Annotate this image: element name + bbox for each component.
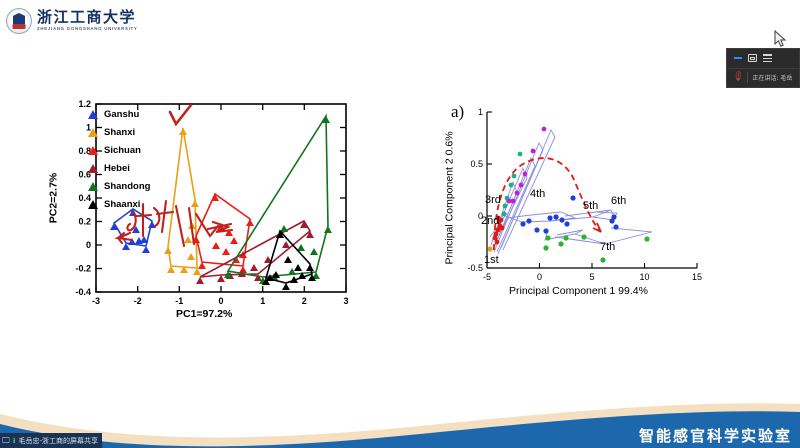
chart-legend: Ganshu Shanxi Sichuan Hebei Shandong Sha… [88,106,150,212]
zoom-meeting-control-panel[interactable]: 🎙 正在讲话: 毛岳 [726,48,800,88]
svg-text:15: 15 [692,272,702,282]
svg-text:2nd: 2nd [481,215,499,227]
legend-marker-triangle [88,146,98,155]
svg-text:-5: -5 [483,272,491,282]
svg-text:6th: 6th [611,195,626,207]
svg-text:3: 3 [343,296,348,306]
legend-label: Shandong [104,181,150,192]
svg-text:1: 1 [260,296,265,306]
legend-label: Shaanxi [104,199,140,210]
right-x-tick-labels: -505 1015 [483,272,702,282]
svg-text:10: 10 [639,272,649,282]
slide-screenshare-stage: 浙江工商大学 ZHEJIANG GONGSHANG UNIVERSITY [0,0,800,448]
screenshare-label: 毛岳忠-浙工商的屏幕共享 [19,436,99,446]
pca-stages-chart: a) -505 1015 -0.50 0.51 [445,100,710,310]
legend-marker-triangle [88,164,98,173]
legend-marker-triangle [88,182,98,191]
legend-item-ganshu: Ganshu [88,106,150,122]
restore-window-icon[interactable] [748,54,757,62]
legend-item-hebei: Hebei [88,160,150,176]
svg-text:0.2: 0.2 [78,217,91,227]
svg-text:-2: -2 [134,296,142,306]
university-seal-icon [6,8,32,34]
legend-item-sichuan: Sichuan [88,142,150,158]
legend-item-shaanxi: Shaanxi [88,196,150,212]
svg-text:4th: 4th [530,188,545,200]
legend-item-shanxi: Shanxi [88,124,150,140]
zoom-panel-window-controls [727,49,799,69]
university-logo: 浙江工商大学 ZHEJIANG GONGSHANG UNIVERSITY [6,6,146,36]
svg-text:5: 5 [589,272,594,282]
panel-label-a: a) [451,102,464,122]
points-1st [487,246,492,251]
active-speaker-label: 正在讲话: 毛岳 [752,73,792,82]
svg-text:0.5: 0.5 [470,159,483,169]
lab-name-banner: 智能感官科学实验室 [639,425,792,446]
logo-text-block: 浙江工商大学 ZHEJIANG GONGSHANG UNIVERSITY [37,10,138,31]
points-7th [543,234,649,262]
y-axis-title: PC2=2.7% [47,173,59,224]
svg-text:-0.2: -0.2 [75,264,91,274]
monitor-icon: 🖵 [2,437,10,445]
connector-lines [490,130,652,254]
svg-text:1: 1 [478,107,483,117]
hamburger-menu-icon[interactable] [763,54,772,62]
minimize-icon[interactable] [734,57,742,59]
divider [747,72,748,83]
legend-marker-triangle [88,200,98,209]
pca-stages-svg: -505 1015 -0.50 0.51 [445,100,710,310]
legend-label: Ganshu [104,109,139,120]
red-checkmark-icon [168,104,194,128]
svg-text:0: 0 [86,240,91,250]
x-tick-labels: -3-2-1 012 3 [92,296,349,306]
legend-marker-triangle [88,110,98,119]
points-6th [609,214,618,229]
download-arrow-icon: ⭳ [13,437,16,445]
x-axis-title: PC1=97.2% [176,308,232,320]
svg-text:-1: -1 [175,296,183,306]
svg-text:-3: -3 [92,296,100,306]
legend-label: Shanxi [104,127,135,138]
mouse-pointer-icon [774,30,787,48]
svg-text:1st: 1st [484,254,499,266]
right-x-axis-title: Principal Component 1 99.4% [509,285,648,297]
svg-text:-0.4: -0.4 [75,287,91,297]
right-y-axis-title: Principal Component 2 0.6% [444,131,456,264]
microphone-muted-icon[interactable]: 🎙 [731,72,745,84]
right-x-ticks [487,263,697,268]
logo-name-en: ZHEJIANG GONGSHANG UNIVERSITY [37,27,138,31]
logo-name-cn: 浙江工商大学 [37,10,138,25]
svg-text:0: 0 [218,296,223,306]
svg-text:5th: 5th [583,200,598,212]
zoom-panel-speaker-row: 🎙 正在讲话: 毛岳 [727,69,799,88]
pca-provinces-chart: -3-2-1 012 3 -0.4-0.20 0.20.40.6 0.811.2 [58,96,358,328]
svg-text:0: 0 [537,272,542,282]
legend-label: Sichuan [104,145,141,156]
svg-text:7th: 7th [600,241,615,253]
legend-label: Hebei [104,163,130,174]
legend-marker-triangle [88,128,98,137]
right-y-tick-labels: -0.50 0.51 [467,107,483,273]
legend-item-shandong: Shandong [88,178,150,194]
screenshare-taskbar-chip[interactable]: 🖵 ⭳ 毛岳忠-浙工商的屏幕共享 [0,433,102,448]
svg-text:3rd: 3rd [485,194,501,206]
svg-text:2: 2 [302,296,307,306]
svg-text:-0.5: -0.5 [467,263,483,273]
